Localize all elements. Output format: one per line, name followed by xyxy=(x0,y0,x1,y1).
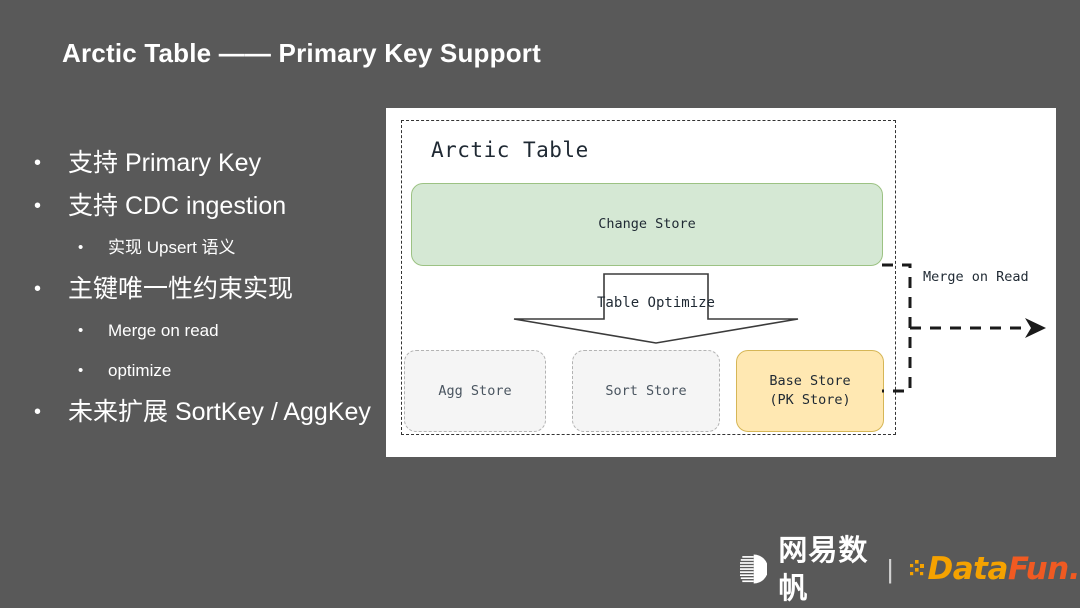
list-item: • 主键唯一性约束实现 xyxy=(28,268,398,311)
bullet-marker-icon: • xyxy=(78,311,108,351)
list-item-label: 实现 Upsert 语义 xyxy=(108,228,398,268)
merge-on-read-label: Merge on Read xyxy=(923,269,1029,285)
list-item: • 支持 CDC ingestion xyxy=(28,185,398,228)
table-optimize-arrow: Table Optimize xyxy=(506,273,806,345)
change-store-box: Change Store xyxy=(411,183,883,266)
list-item-label: optimize xyxy=(108,351,398,391)
merge-on-read-arrow-icon xyxy=(882,206,1056,421)
merge-on-read-connector xyxy=(882,206,1056,421)
netease-logo-icon xyxy=(740,550,767,588)
datafun-dots-icon xyxy=(910,556,926,582)
bullet-marker-icon: • xyxy=(78,351,108,391)
bullet-marker-icon: • xyxy=(34,391,68,434)
bullet-marker-icon: • xyxy=(34,185,68,228)
list-item-label: 未来扩展 SortKey / AggKey xyxy=(68,391,398,434)
list-item-label: 支持 CDC ingestion xyxy=(68,185,398,228)
list-item-label: 主键唯一性约束实现 xyxy=(68,268,398,311)
table-optimize-label: Table Optimize xyxy=(506,295,806,311)
list-item-label: 支持 Primary Key xyxy=(68,142,398,185)
list-item: • optimize xyxy=(28,351,398,391)
list-item: • 实现 Upsert 语义 xyxy=(28,228,398,268)
list-item: • Merge on read xyxy=(28,311,398,351)
list-item: • 未来扩展 SortKey / AggKey xyxy=(28,391,398,434)
bullet-marker-icon: • xyxy=(34,268,68,311)
page-title: Arctic Table —— Primary Key Support xyxy=(62,38,541,69)
bullet-marker-icon: • xyxy=(78,228,108,268)
list-item: • 支持 Primary Key xyxy=(28,142,398,185)
datafun-text-fun: Fun. xyxy=(1008,551,1080,587)
datafun-logo: DataFun. xyxy=(910,552,1080,586)
bullet-list: • 支持 Primary Key • 支持 CDC ingestion • 实现… xyxy=(28,142,398,434)
architecture-diagram: Arctic Table Change Store Table Optimize… xyxy=(386,108,1056,457)
sort-store-box: Sort Store xyxy=(572,350,720,432)
netease-brand-text: 网易数帆 xyxy=(778,531,869,607)
slide-root: Arctic Table —— Primary Key Support • 支持… xyxy=(0,0,1080,608)
agg-store-box: Agg Store xyxy=(404,350,546,432)
logo-separator: | xyxy=(887,551,894,587)
bullet-marker-icon: • xyxy=(34,142,68,185)
footer-branding: 网易数帆 | DataFun. xyxy=(740,545,1080,593)
list-item-label: Merge on read xyxy=(108,311,398,351)
datafun-text-data: Data xyxy=(927,551,1007,587)
arctic-table-label: Arctic Table xyxy=(431,138,589,162)
base-store-box: Base Store (PK Store) xyxy=(736,350,884,432)
